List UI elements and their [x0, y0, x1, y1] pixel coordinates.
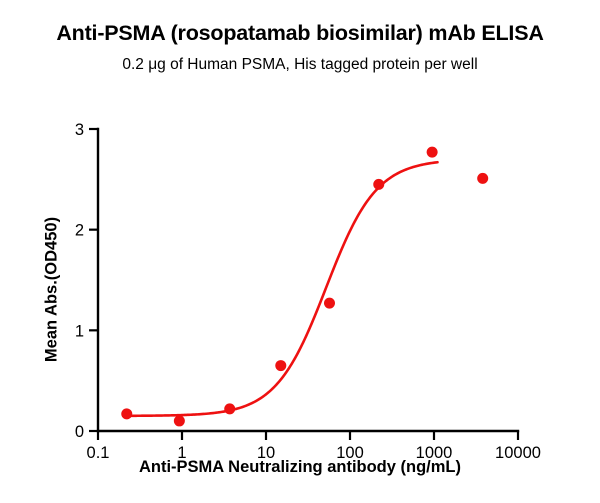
x-tick-label: 1: [177, 444, 186, 462]
y-tick-label: 3: [75, 121, 84, 139]
x-tick-label: 1000: [416, 444, 453, 462]
x-tick-label: 0.1: [87, 444, 110, 462]
data-point: [427, 147, 438, 158]
data-point: [121, 408, 132, 419]
elisa-chart-figure: Anti-PSMA (rosopatamab biosimilar) mAb E…: [0, 0, 600, 503]
data-point: [275, 360, 286, 371]
plot-area: 0123 0.1110100100010000: [0, 0, 600, 503]
data-point: [373, 179, 384, 190]
sigmoid-fit-curve: [123, 162, 437, 416]
y-tick-group: 0123: [75, 121, 98, 441]
x-tick-label: 100: [336, 444, 364, 462]
data-point: [477, 173, 488, 184]
x-tick-label: 10: [257, 444, 275, 462]
y-tick-label: 0: [75, 423, 84, 441]
y-tick-label: 2: [75, 222, 84, 240]
data-point: [324, 298, 335, 309]
data-point: [174, 415, 185, 426]
data-points-group: [121, 147, 488, 427]
x-tick-group: 0.1110100100010000: [87, 431, 541, 462]
data-point: [224, 403, 235, 414]
y-tick-label: 1: [75, 322, 84, 340]
x-tick-label: 10000: [495, 444, 541, 462]
